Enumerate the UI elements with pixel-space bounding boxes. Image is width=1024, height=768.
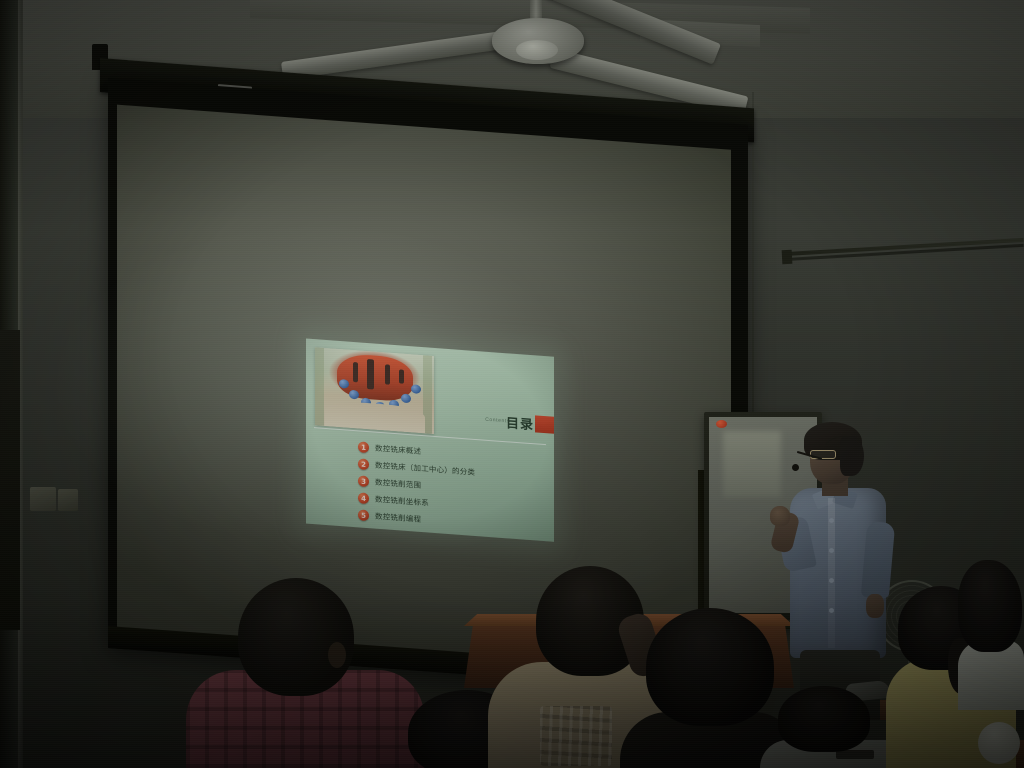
projected-slide: Contents 目录 1 数控铣床概述 2 数控铣床（加工中心）的分类 3 数… <box>306 339 554 542</box>
slide-contents-cn-label: 目录 <box>506 412 534 433</box>
student-head <box>646 608 774 726</box>
whiteboard-magnet[interactable] <box>716 420 727 428</box>
fan-cap <box>516 40 558 60</box>
student-head <box>778 686 870 752</box>
student-shirt-graphic <box>540 706 612 766</box>
slide-item-number: 3 <box>358 475 369 487</box>
slide-item-label: 数控铣削编程 <box>375 511 421 525</box>
slide-item-number: 5 <box>358 509 369 521</box>
foreground-blob <box>978 722 1020 764</box>
slide-item-number: 2 <box>358 458 369 470</box>
slide-accent-block <box>535 415 554 433</box>
wall-rail-endcap <box>782 250 793 265</box>
wall-switch[interactable] <box>58 489 78 511</box>
left-door-panel <box>0 330 20 630</box>
slide-agenda-list: 1 数控铣床概述 2 数控铣床（加工中心）的分类 3 数控铣削范围 4 数控铣削… <box>358 438 554 537</box>
slide-item-number: 4 <box>358 492 369 504</box>
foreground-object <box>978 722 1020 768</box>
student-plaid-shirt <box>186 578 424 768</box>
student-far-right <box>958 560 1024 710</box>
microphone-icon <box>792 464 799 471</box>
student-shirt-logo <box>836 750 874 759</box>
teacher-right-hand <box>866 594 884 618</box>
slide-item-number: 1 <box>358 441 369 453</box>
student-hair <box>958 560 1022 652</box>
slide-item-label: 数控铣床概述 <box>375 443 421 457</box>
wall-socket[interactable] <box>30 487 56 511</box>
slide-item-label: 数控铣削坐标系 <box>375 494 429 509</box>
teacher-left-fist <box>770 506 790 526</box>
student-ear <box>328 642 346 668</box>
classroom-scene: Contents 目录 1 数控铣床概述 2 数控铣床（加工中心）的分类 3 数… <box>0 0 1024 768</box>
student-head <box>238 578 354 696</box>
slide-item-label: 数控铣削范围 <box>375 477 421 491</box>
